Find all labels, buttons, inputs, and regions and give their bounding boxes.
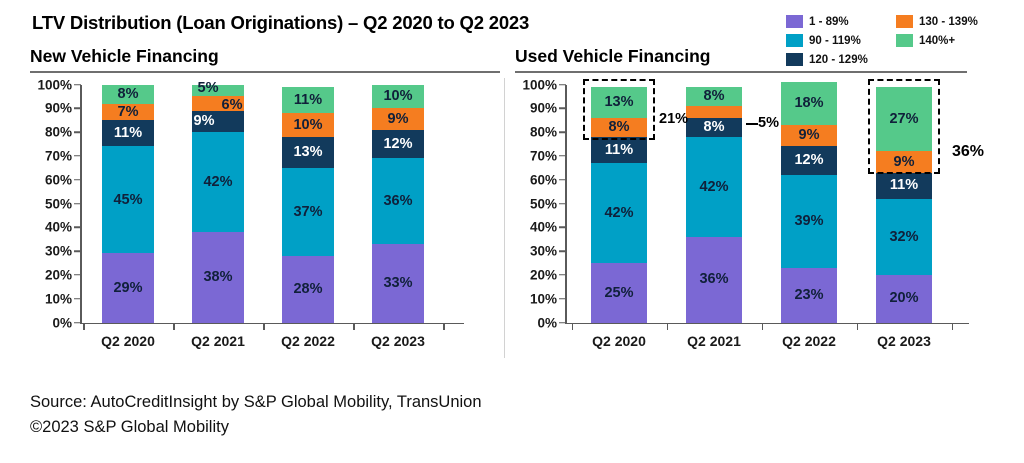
bar-segment[interactable]: 9% [372,108,424,129]
bar-group[interactable]: 23%39%12%9%18% [781,85,837,323]
y-axis-tick-label: 40% [45,220,72,235]
bar-group[interactable]: 25%42%11%8%13% [591,85,647,323]
footer-line-1: Source: AutoCreditInsight by S&P Global … [30,390,482,415]
bar-segment-label: 13% [604,95,633,110]
bar-segment[interactable]: 42% [192,132,244,232]
bar-segment[interactable]: 39% [781,175,837,268]
bar-segment[interactable]: 8% [591,118,647,137]
bar-segment-label: 42% [203,175,232,190]
page-title: LTV Distribution (Loan Originations) – Q… [32,12,529,34]
legend-label-1-89: 1 - 89% [809,16,849,28]
bar-segment-label: 36% [383,194,412,209]
bar-segment[interactable]: 9% [192,111,244,132]
bar-segment[interactable]: 37% [282,168,334,256]
plot-area-used: 100%90%80%70%60%50%40%30%20%10%0% 25%42%… [515,85,1013,353]
bar-segment[interactable]: 45% [102,146,154,253]
bar-segment[interactable]: 9% [781,125,837,146]
bar-segment-label: 12% [383,137,412,152]
y-axis-tick-label: 100% [522,77,557,92]
bar-segment-label: 5% [198,81,219,96]
x-axis-category-label: Q2 2022 [763,333,855,349]
y-axis-tick [559,298,566,300]
bar-segment-label: 28% [293,282,322,297]
y-axis-tick-label: 30% [530,244,557,259]
y-axis-tick-label: 100% [37,77,72,92]
bar-segment[interactable]: 36% [686,237,742,323]
bar-segment-label: 39% [794,214,823,229]
legend-item-1-89: 1 - 89% [786,12,896,31]
footer-source: Source: AutoCreditInsight by S&P Global … [30,390,482,440]
x-axis-tick [83,323,85,330]
x-axis-category-label: Q2 2021 [668,333,760,349]
bar-segment-label: 12% [794,153,823,168]
bar-segment[interactable]: 28% [282,256,334,323]
panel-divider [504,78,505,358]
bar-segment-label: 18% [794,96,823,111]
bar-segment[interactable]: 42% [591,163,647,263]
y-axis-tick [559,131,566,133]
bar-segment-label: 29% [113,281,142,296]
y-axis-tick-label: 90% [45,101,72,116]
y-axis-tick [74,274,81,276]
y-axis-tick-label: 10% [530,291,557,306]
bar-segment[interactable]: 10% [282,113,334,137]
y-axis-tick-label: 60% [45,172,72,187]
bar-segment[interactable]: 11% [591,137,647,163]
y-axis-tick-label: 50% [45,196,72,211]
y-axis-tick-label: 20% [530,267,557,282]
bar-group[interactable]: 38%42%9%6%5% [192,85,244,323]
bar-segment[interactable]: 8% [102,85,154,104]
bar-segment-label: 27% [889,112,918,127]
bar-segment[interactable]: 20% [876,275,932,323]
y-axis-tick [559,274,566,276]
bar-group[interactable]: 28%37%13%10%11% [282,85,334,323]
y-axis-tick-label: 0% [52,315,72,330]
bar-segment[interactable]: 11% [102,120,154,146]
legend-label-90-119: 90 - 119% [809,35,861,47]
x-axis-line-used [565,323,969,325]
footer-line-2: ©2023 S&P Global Mobility [30,415,482,440]
y-axis-tick [559,179,566,181]
x-axis-category-label: Q2 2022 [264,333,352,349]
bar-group[interactable]: 29%45%11%7%8% [102,85,154,323]
legend-label-140-plus: 140%+ [919,35,955,47]
panel-new-vehicle-financing: New Vehicle Financing 100%90%80%70%60%50… [30,46,500,356]
y-axis-tick-label: 20% [45,267,72,282]
bar-segment-label: 11% [605,143,633,158]
x-axis-tick [762,323,764,330]
x-axis-tick [443,323,445,330]
x-axis-category-label: Q2 2023 [354,333,442,349]
y-axis-tick-label: 0% [537,315,557,330]
bar-segment-label: 8% [704,120,725,135]
bar-segment[interactable]: 9% [876,151,932,172]
y-axis-tick [74,227,81,229]
bar-segment-label: 42% [699,180,728,195]
panel-used-vehicle-financing: Used Vehicle Financing 100%90%80%70%60%5… [515,46,1013,356]
bar-segment-label: 37% [293,205,322,220]
bar-segment-label: 42% [604,206,633,221]
bar-segment-label: 11% [890,178,918,193]
y-axis-tick-label: 70% [530,148,557,163]
plot-area-new: 100%90%80%70%60%50%40%30%20%10%0% 29%45%… [30,85,500,353]
x-axis-line-new [80,323,464,325]
y-axis-tick [74,108,81,110]
bar-segment[interactable]: 36% [372,158,424,244]
legend-swatch-1-89 [786,15,803,28]
panel-title-new: New Vehicle Financing [30,46,500,71]
bar-segment-label: 10% [383,89,412,104]
y-axis-tick [74,298,81,300]
bar-segment[interactable]: 11% [282,87,334,113]
bar-segment-label: 8% [118,87,139,102]
bar-segment[interactable]: 12% [781,146,837,175]
bars-container-used: 25%42%11%8%13%36%42%8%5%8%23%39%12%9%18%… [565,85,1013,323]
bar-segment[interactable]: 5% [192,85,244,97]
bar-segment-label: 6% [222,98,243,113]
bar-segment[interactable]: 11% [876,173,932,199]
panel-rule-new [30,71,500,73]
x-axis-category-label: Q2 2021 [174,333,262,349]
y-axis-tick-label: 80% [530,125,557,140]
x-axis-category-label: Q2 2020 [573,333,665,349]
bar-segment-label: 8% [609,120,630,135]
y-axis-labels-used: 100%90%80%70%60%50%40%30%20%10%0% [515,85,561,323]
bar-segment-label: 8% [704,89,725,104]
bar-segment[interactable]: 27% [876,87,932,151]
bar-segment-label: 9% [388,112,409,127]
y-axis-tick [74,250,81,252]
y-axis-tick-label: 50% [530,196,557,211]
y-axis-tick [559,84,566,86]
legend-swatch-130-139 [896,15,913,28]
bar-segment[interactable]: 12% [372,130,424,159]
y-axis-tick [74,155,81,157]
x-axis-tick [667,323,669,330]
bar-group[interactable]: 36%42%8%5%8% [686,85,742,323]
annotation-leader-line [746,123,758,125]
y-axis-tick-label: 30% [45,244,72,259]
y-axis-tick [559,108,566,110]
bar-segment-label: 7% [118,105,139,120]
y-axis-tick-label: 70% [45,148,72,163]
bar-segment[interactable]: 25% [591,263,647,323]
y-axis-tick-label: 40% [530,220,557,235]
y-axis-tick-label: 10% [45,291,72,306]
bar-segment[interactable]: 38% [192,232,244,322]
x-axis-category-label: Q2 2023 [858,333,950,349]
bar-segment-label: 36% [699,272,728,287]
bar-segment[interactable]: 8% [686,87,742,106]
y-axis-tick [559,203,566,205]
x-axis-tick [952,323,954,330]
bar-segment-label: 11% [294,93,322,108]
annotation-value-label: 5% [758,115,779,131]
y-axis-tick-label: 80% [45,125,72,140]
bar-group[interactable]: 33%36%12%9%10% [372,85,424,323]
y-axis-tick [559,227,566,229]
bar-segment-label: 33% [383,276,412,291]
legend-label-130-139: 130 - 139% [919,16,978,28]
bar-segment-label: 10% [293,118,322,133]
y-axis-labels-new: 100%90%80%70%60%50%40%30%20%10%0% [30,85,76,323]
x-axis-tick [857,323,859,330]
bar-segment[interactable]: 5% [686,106,742,118]
x-axis-tick [353,323,355,330]
bar-segment[interactable]: 29% [102,253,154,322]
x-axis-category-label: Q2 2020 [84,333,172,349]
y-axis-tick [74,131,81,133]
bar-segment-label: 11% [114,126,142,141]
x-axis-tick [173,323,175,330]
chart-page: LTV Distribution (Loan Originations) – Q… [0,0,1024,463]
bar-segment-label: 9% [194,114,215,129]
bar-segment-label: 25% [604,286,633,301]
bar-segment-label: 9% [799,128,820,143]
annotation-value-label: 36% [952,143,984,161]
y-axis-tick [74,84,81,86]
bar-group[interactable]: 20%32%11%9%27% [876,85,932,323]
bar-segment-label: 32% [889,230,918,245]
bar-segment[interactable]: 10% [372,85,424,109]
bar-segment-label: 38% [203,270,232,285]
bars-container-new: 29%45%11%7%8%38%42%9%6%5%28%37%13%10%11%… [80,85,500,323]
bar-segment[interactable]: 42% [686,137,742,237]
y-axis-tick [559,155,566,157]
legend-item-130-139: 130 - 139% [896,12,1018,31]
y-axis-tick [74,179,81,181]
bar-segment[interactable]: 6% [192,96,244,110]
y-axis-tick-label: 90% [530,101,557,116]
bar-segment-label: 45% [113,193,142,208]
bar-segment[interactable]: 18% [781,82,837,125]
annotation-value-label: 21% [659,111,688,127]
bar-segment[interactable]: 8% [686,118,742,137]
bar-segment-label: 23% [794,288,823,303]
bar-segment[interactable]: 13% [591,87,647,118]
panel-title-used: Used Vehicle Financing [515,46,1013,71]
bar-segment[interactable]: 32% [876,199,932,275]
bar-segment[interactable]: 33% [372,244,424,323]
panel-rule-used [515,71,967,73]
bar-segment[interactable]: 13% [282,137,334,168]
x-axis-tick [572,323,574,330]
bar-segment-label: 13% [293,145,322,160]
y-axis-tick [559,250,566,252]
y-axis-tick [559,322,566,324]
bar-segment-label: 9% [894,155,915,170]
bar-segment[interactable]: 23% [781,268,837,323]
bar-segment-label: 20% [889,291,918,306]
y-axis-tick-label: 60% [530,172,557,187]
x-axis-tick [263,323,265,330]
y-axis-tick [74,203,81,205]
bar-segment[interactable]: 7% [102,104,154,121]
y-axis-tick [74,322,81,324]
